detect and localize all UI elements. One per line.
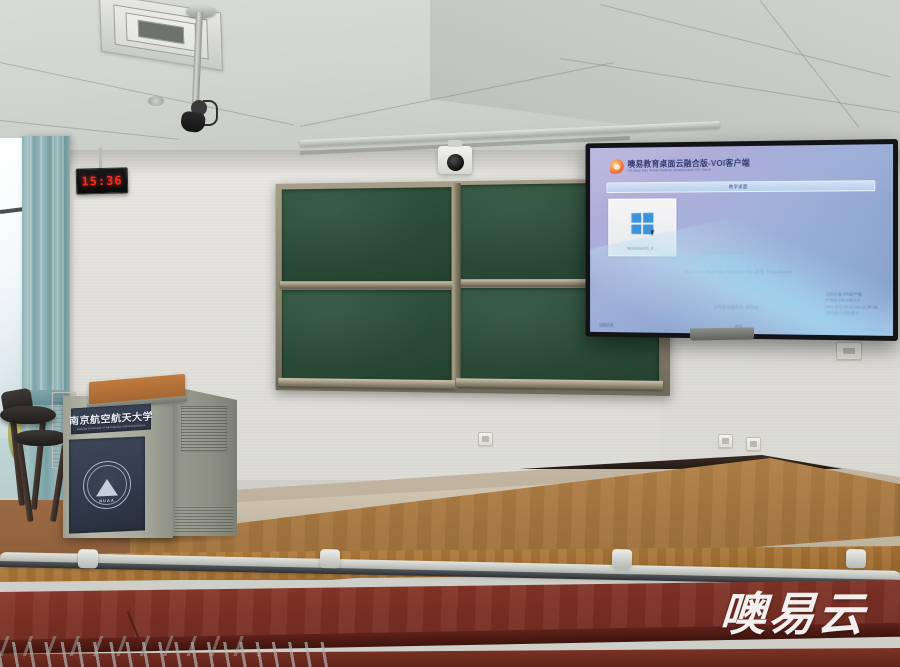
chalkboard-panel-bottom-left bbox=[282, 290, 452, 383]
nuaa-crest-icon: NUAA bbox=[83, 460, 131, 510]
podium-vent-grille bbox=[181, 406, 227, 452]
ceiling-speaker-icon bbox=[148, 96, 164, 106]
chalkboard-center-mullion bbox=[452, 183, 460, 389]
wall-outlet-icon[interactable] bbox=[718, 434, 733, 448]
classroom-scene: 15:36 噢易教育桌面 bbox=[0, 0, 900, 667]
wall-outlet-icon[interactable] bbox=[746, 437, 761, 451]
voi-title-en: OS-Easy Edu Virtual Desktop Infrastructu… bbox=[627, 168, 743, 173]
chalkboard-rail bbox=[280, 281, 453, 288]
crest-triangle bbox=[96, 478, 118, 496]
screen-glare-secondary bbox=[590, 255, 893, 336]
led-clock-icon: 15:36 bbox=[76, 167, 129, 194]
voi-section-label: 教学桌面 bbox=[729, 184, 748, 190]
clock-stem bbox=[99, 148, 102, 170]
wall-outlet-icon[interactable] bbox=[478, 432, 493, 446]
crest-label: NUAA bbox=[84, 497, 130, 504]
podium-vent-grille bbox=[175, 506, 233, 532]
podium-door[interactable]: NUAA bbox=[69, 436, 145, 533]
clock-time: 15:36 bbox=[81, 173, 122, 188]
conduit-coupler bbox=[78, 549, 98, 568]
wall-display[interactable]: 噢易教育桌面云融合版-VOI客户端 OS-Easy Edu Virtual De… bbox=[586, 139, 898, 341]
chalkboard-panel-top-left bbox=[282, 187, 452, 282]
voi-client-screen[interactable]: 噢易教育桌面云融合版-VOI客户端 OS-Easy Edu Virtual De… bbox=[590, 144, 893, 336]
podium-nameplate: 南京航空航天大学 Nanjing University of Aeronauti… bbox=[71, 404, 151, 435]
dome-camera-icon bbox=[438, 146, 472, 174]
chair-seat bbox=[14, 430, 68, 446]
conduit-coupler bbox=[612, 549, 632, 568]
multimedia-podium[interactable]: 南京航空航天大学 Nanjing University of Aeronauti… bbox=[63, 378, 238, 538]
chair-leg bbox=[16, 442, 33, 522]
cloud-flame-logo-icon bbox=[610, 159, 624, 174]
chair-seat bbox=[0, 406, 56, 424]
desk-metal-frame bbox=[0, 636, 260, 656]
conduit-coupler bbox=[846, 549, 866, 568]
tv-wall-mount-icon bbox=[690, 327, 754, 340]
chair bbox=[14, 430, 70, 540]
voi-section-bar: 教学桌面 bbox=[606, 180, 875, 193]
voi-header: 噢易教育桌面云融合版-VOI客户端 OS-Easy Edu Virtual De… bbox=[610, 158, 750, 174]
camera-bracket bbox=[203, 100, 218, 126]
conduit-coupler bbox=[320, 549, 340, 568]
wall-panel-icon[interactable] bbox=[836, 342, 862, 360]
